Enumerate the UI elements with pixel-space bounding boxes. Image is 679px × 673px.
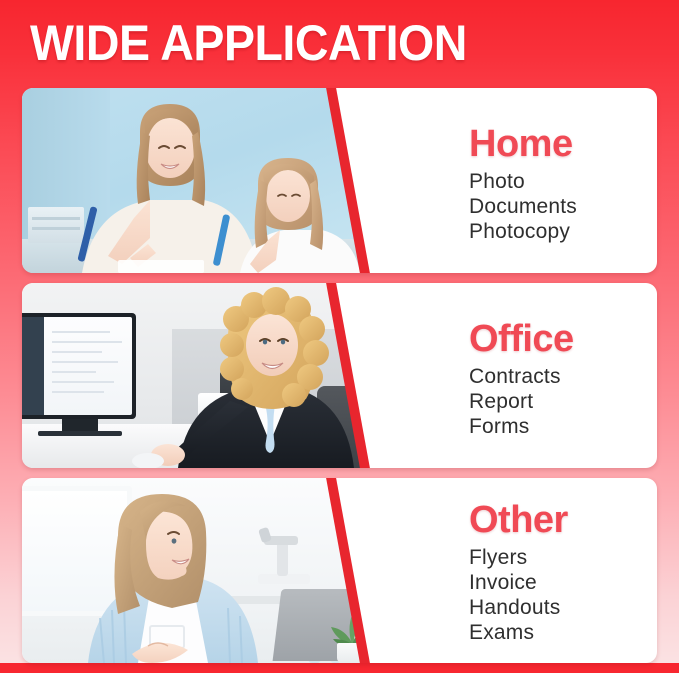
card-text-panel: Office Contracts Report Forms [380,283,657,468]
application-card[interactable]: Home Photo Documents Photocopy [22,88,657,273]
card-item-list: Photo Documents Photocopy [469,169,657,244]
list-item: Report [469,389,657,414]
card-text-panel: Other Flyers Invoice Handouts Exams [380,478,657,663]
application-card[interactable]: Office Contracts Report Forms [22,283,657,468]
card-item-list: Contracts Report Forms [469,364,657,439]
card-heading: Other [469,498,657,542]
card-item-list: Flyers Invoice Handouts Exams [469,545,657,645]
card-photo [22,478,377,663]
card-heading: Office [469,317,657,361]
list-item: Documents [469,194,657,219]
list-item: Exams [469,620,657,645]
card-text-panel: Home Photo Documents Photocopy [380,88,657,273]
card-heading: Home [469,122,657,166]
list-item: Contracts [469,364,657,389]
list-item: Forms [469,414,657,439]
other-scene-illustration [22,478,377,663]
application-card[interactable]: Other Flyers Invoice Handouts Exams [22,478,657,663]
application-card-list: Home Photo Documents Photocopy [0,88,679,673]
list-item: Photocopy [469,219,657,244]
office-scene-illustration [22,283,377,468]
page-title: WIDE APPLICATION [30,14,467,72]
list-item: Photo [469,169,657,194]
list-item: Flyers [469,545,657,570]
header-banner: WIDE APPLICATION [0,0,679,88]
card-photo [22,88,377,273]
card-photo [22,283,377,468]
home-scene-illustration [22,88,377,273]
list-item: Handouts [469,595,657,620]
list-item: Invoice [469,570,657,595]
